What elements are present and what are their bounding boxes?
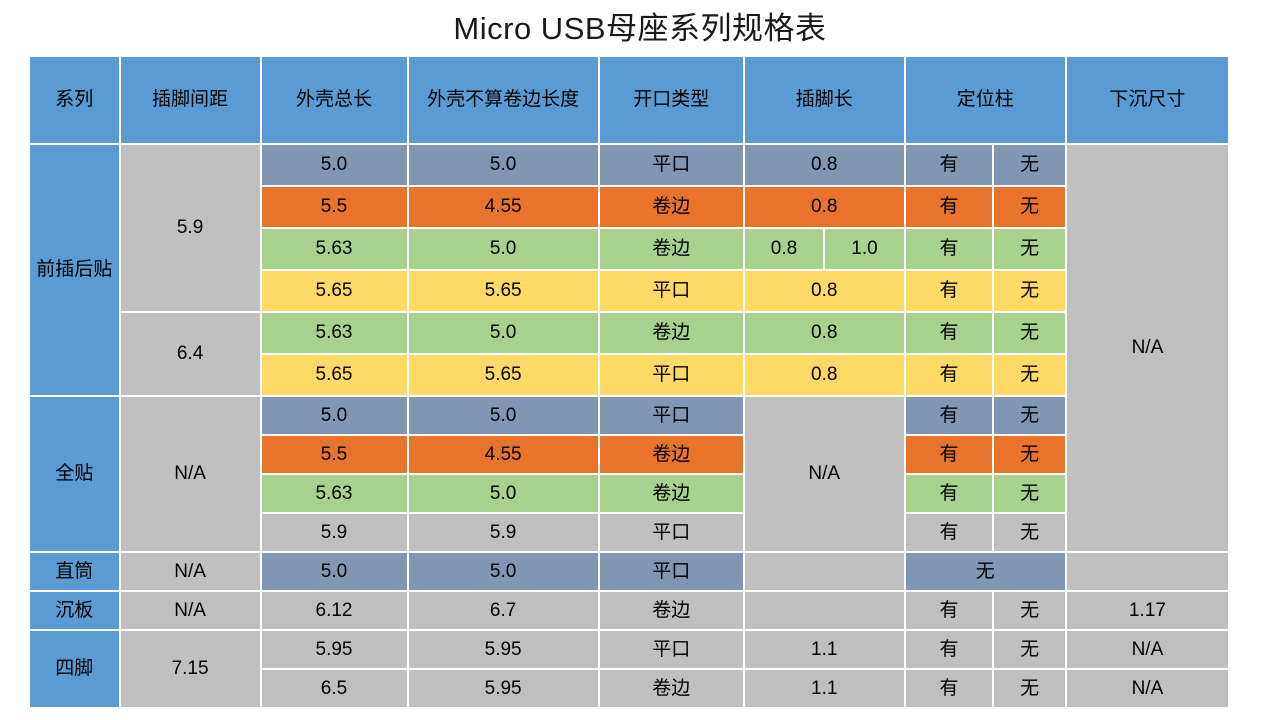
locating-post-yes: 有 — [906, 229, 993, 269]
opening-type-value: 平口 — [600, 355, 743, 395]
opening-type-value: 平口 — [600, 397, 743, 434]
header-sink-dimension: 下沉尺寸 — [1067, 57, 1228, 143]
locating-post-merged: 无 — [906, 553, 1065, 590]
shell-length-no-curl-value: 5.9 — [409, 514, 598, 551]
locating-post-yes: 有 — [906, 313, 993, 353]
shell-length-no-curl-value: 5.0 — [409, 229, 598, 269]
header-pin-pitch: 插脚间距 — [121, 57, 260, 143]
locating-post-no: 无 — [994, 631, 1064, 668]
spec-table: 系列 插脚间距 外壳总长 外壳不算卷边长度 开口类型 插脚长 定位柱 下沉尺寸 … — [28, 55, 1230, 709]
opening-type-value: 平口 — [600, 553, 743, 590]
shell-length-no-curl-value: 5.0 — [409, 553, 598, 590]
pin-length-value: 0.8 — [745, 313, 904, 353]
locating-post-no: 无 — [994, 514, 1064, 551]
shell-length-no-curl-value: 5.0 — [409, 475, 598, 512]
sink-dimension-value — [1067, 553, 1228, 590]
shell-length-no-curl-value: 5.95 — [409, 670, 598, 707]
shell-length-no-curl-value: 5.0 — [409, 313, 598, 353]
shell-length-no-curl-value: 5.65 — [409, 355, 598, 395]
shell-total-length-value: 6.5 — [262, 670, 407, 707]
pin-length-value: 0.8 — [745, 187, 904, 227]
locating-post-no: 无 — [994, 229, 1064, 269]
locating-post-yes: 有 — [906, 271, 993, 311]
pin-pitch-value: N/A — [121, 553, 260, 590]
series-label: 全贴 — [30, 397, 119, 551]
header-shell-length-no-curl: 外壳不算卷边长度 — [409, 57, 598, 143]
opening-type-value: 卷边 — [600, 313, 743, 353]
locating-post-yes: 有 — [906, 397, 993, 434]
sink-dimension-value: N/A — [1067, 631, 1228, 668]
table-row: 四脚 7.15 5.95 5.95 平口 1.1 有 无 N/A — [30, 631, 1228, 668]
pin-pitch-value: N/A — [121, 592, 260, 629]
shell-length-no-curl-value: 5.0 — [409, 397, 598, 434]
locating-post-no: 无 — [994, 397, 1064, 434]
pin-length-value: 0.8 — [745, 145, 904, 185]
header-pin-length: 插脚长 — [745, 57, 904, 143]
shell-total-length-value: 5.95 — [262, 631, 407, 668]
locating-post-no: 无 — [994, 355, 1064, 395]
series-label: 前插后贴 — [30, 145, 119, 395]
locating-post-no: 无 — [994, 670, 1064, 707]
locating-post-yes: 有 — [906, 145, 993, 185]
shell-total-length-value: 5.0 — [262, 553, 407, 590]
shell-total-length-value: 6.12 — [262, 592, 407, 629]
locating-post-yes: 有 — [906, 631, 993, 668]
locating-post-no: 无 — [994, 145, 1064, 185]
locating-post-yes: 有 — [906, 436, 993, 473]
header-opening-type: 开口类型 — [600, 57, 743, 143]
shell-total-length-value: 5.9 — [262, 514, 407, 551]
opening-type-value: 平口 — [600, 631, 743, 668]
shell-total-length-value: 5.0 — [262, 145, 407, 185]
pin-length-value — [745, 553, 904, 590]
pin-length-alt-value: 1.0 — [825, 229, 904, 269]
shell-length-no-curl-value: 4.55 — [409, 436, 598, 473]
header-shell-total-length: 外壳总长 — [262, 57, 407, 143]
pin-pitch-value: 7.15 — [121, 631, 260, 707]
opening-type-value: 平口 — [600, 145, 743, 185]
shell-total-length-value: 5.5 — [262, 187, 407, 227]
pin-pitch-value: N/A — [121, 397, 260, 551]
locating-post-no: 无 — [994, 187, 1064, 227]
pin-length-value: 1.1 — [745, 670, 904, 707]
opening-type-value: 卷边 — [600, 229, 743, 269]
pin-length-value: N/A — [745, 397, 904, 551]
locating-post-no: 无 — [994, 436, 1064, 473]
pin-length-value: 1.1 — [745, 631, 904, 668]
series-label: 沉板 — [30, 592, 119, 629]
table-row: 沉板 N/A 6.12 6.7 卷边 有 无 1.17 — [30, 592, 1228, 629]
locating-post-yes: 有 — [906, 475, 993, 512]
locating-post-yes: 有 — [906, 592, 993, 629]
sink-dimension-value: 1.17 — [1067, 592, 1228, 629]
series-label: 四脚 — [30, 631, 119, 707]
locating-post-yes: 有 — [906, 187, 993, 227]
shell-length-no-curl-value: 4.55 — [409, 187, 598, 227]
locating-post-no: 无 — [994, 592, 1064, 629]
locating-post-yes: 有 — [906, 670, 993, 707]
shell-total-length-value: 5.63 — [262, 475, 407, 512]
table-row: 前插后贴 5.9 5.0 5.0 平口 0.8 有 无 N/A — [30, 145, 1228, 185]
pin-length-value — [745, 592, 904, 629]
shell-length-no-curl-value: 6.7 — [409, 592, 598, 629]
shell-total-length-value: 5.5 — [262, 436, 407, 473]
shell-length-no-curl-value: 5.95 — [409, 631, 598, 668]
opening-type-value: 平口 — [600, 271, 743, 311]
opening-type-value: 平口 — [600, 514, 743, 551]
shell-total-length-value: 5.0 — [262, 397, 407, 434]
shell-length-no-curl-value: 5.65 — [409, 271, 598, 311]
locating-post-no: 无 — [994, 313, 1064, 353]
locating-post-yes: 有 — [906, 355, 993, 395]
pin-pitch-value: 5.9 — [121, 145, 260, 311]
shell-total-length-value: 5.65 — [262, 271, 407, 311]
table-row: 全贴 N/A 5.0 5.0 平口 N/A 有 无 — [30, 397, 1228, 434]
opening-type-value: 卷边 — [600, 592, 743, 629]
locating-post-yes: 有 — [906, 514, 993, 551]
table-row: 直筒 N/A 5.0 5.0 平口 无 — [30, 553, 1228, 590]
locating-post-no: 无 — [994, 475, 1064, 512]
opening-type-value: 卷边 — [600, 475, 743, 512]
opening-type-value: 卷边 — [600, 187, 743, 227]
shell-total-length-value: 5.63 — [262, 229, 407, 269]
opening-type-value: 卷边 — [600, 670, 743, 707]
pin-length-value: 0.8 — [745, 229, 824, 269]
sink-dimension-value: N/A — [1067, 670, 1228, 707]
pin-pitch-value: 6.4 — [121, 313, 260, 395]
pin-length-value: 0.8 — [745, 355, 904, 395]
shell-total-length-value: 5.63 — [262, 313, 407, 353]
table-row: 6.4 5.63 5.0 卷边 0.8 有 无 — [30, 313, 1228, 353]
locating-post-no: 无 — [994, 271, 1064, 311]
sink-dimension-value: N/A — [1067, 145, 1228, 551]
opening-type-value: 卷边 — [600, 436, 743, 473]
header-series: 系列 — [30, 57, 119, 143]
series-label: 直筒 — [30, 553, 119, 590]
shell-length-no-curl-value: 5.0 — [409, 145, 598, 185]
header-locating-post: 定位柱 — [906, 57, 1065, 143]
shell-total-length-value: 5.65 — [262, 355, 407, 395]
page-title: Micro USB母座系列规格表 — [0, 0, 1280, 50]
pin-length-value: 0.8 — [745, 271, 904, 311]
